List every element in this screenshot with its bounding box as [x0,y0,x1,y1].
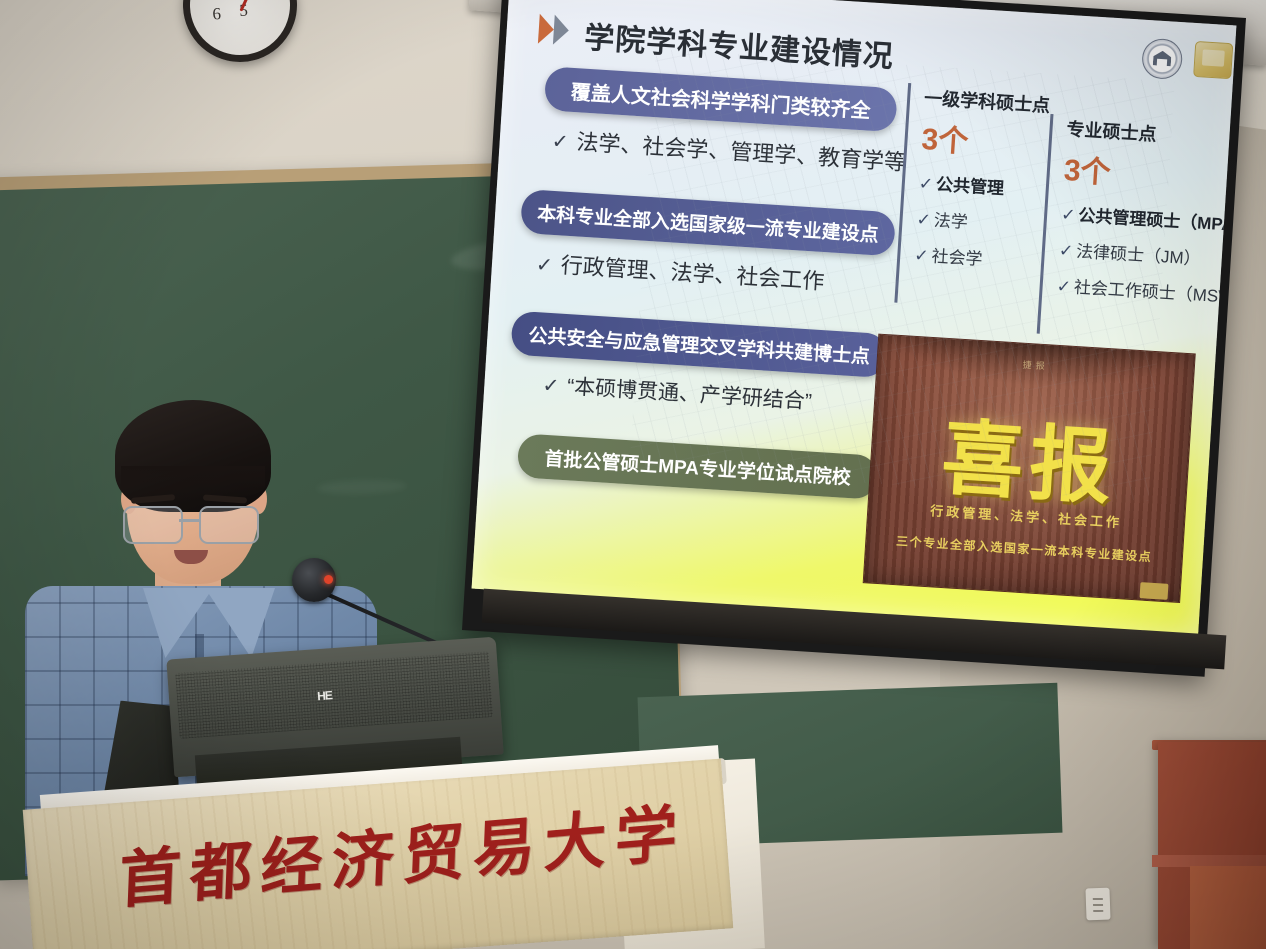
stat-item: ✓公共管理 [918,169,1051,202]
stat-column-professional-master: 专业硕士点 3个 ✓公共管理硕士（MPA） ✓法律硕士（JM） ✓社会工作硕士（… [1037,114,1227,345]
slide-bar-4: 首批公管硕士MPA专业学位试点院校 [517,433,879,500]
lens-right [199,506,259,544]
slide-bar-2: 本科专业全部入选国家级一流专业建设点 [520,189,896,256]
check-icon: ✓ [1056,277,1071,297]
eyeglasses [123,506,263,540]
check-icon: ✓ [914,246,929,266]
check-icon: ✓ [1061,205,1076,225]
gold-award-logo [1193,41,1233,79]
double-chevron-icon [538,14,586,47]
stat-item-text: 法律硕士（JM） [1076,242,1202,269]
stat-column-title: 一级学科硕士点 [924,84,1057,118]
projector-screen-pull-tab[interactable] [1140,582,1169,600]
check-icon: ✓ [542,375,560,398]
stat-item: ✓法律硕士（JM） [1058,236,1219,271]
lectern-body [1190,866,1266,949]
check-icon: ✓ [916,210,931,230]
monitor-mesh [175,651,493,739]
poster-line-2: 三个专业全部入选国家一流本科专业建设点 [866,530,1182,567]
glasses-bridge [179,519,199,522]
stat-column-count: 3个 [920,114,1055,166]
stat-item: ✓社会学 [914,241,1047,274]
good-news-poster: 捷报 喜报 行政管理、法学、社会工作 三个专业全部入选国家一流本科专业建设点 [863,334,1196,603]
stat-column-count: 3个 [1063,145,1225,199]
stat-item-text: 公共管理硕士（MPA） [1078,206,1237,236]
lens-left [123,506,183,544]
stat-item: ✓法学 [916,205,1049,238]
slide-subpoint-1-text: 法学、社会学、管理学、教育学等 [576,129,907,175]
clock-number-6: 6 [212,4,222,24]
slide-subpoint-2-text: 行政管理、法学、社会工作 [560,253,825,295]
check-icon: ✓ [1058,241,1073,261]
stat-item: ✓社会工作硕士（MSW） [1056,272,1217,307]
wall-power-outlet [1085,888,1110,921]
screenshot-root: 6 5 学院学科专业建设情况 覆盖人文社会科学学科门类较齐全 ✓法学、社会学、管… [0,0,1266,949]
stat-item-text: 公共管理 [936,175,1005,198]
presentation-slide: 学院学科专业建设情况 覆盖人文社会科学学科门类较齐全 ✓法学、社会学、管理学、教… [472,0,1237,634]
stat-column-first-level-master: 一级学科硕士点 3个 ✓公共管理 ✓法学 ✓社会学 [894,83,1057,312]
university-seal-logo [1141,38,1183,80]
slide-subpoint-3: ✓“本硕博贯通、产学研结合” [542,369,813,416]
check-icon: ✓ [918,174,933,194]
stat-item-text: 社会工作硕士（MSW） [1073,278,1236,308]
monitor-brand-badge: HE [317,688,333,703]
slide-bar-1: 覆盖人文社会科学学科门类较齐全 [544,66,898,132]
microphone-led-icon [324,575,333,584]
check-icon: ✓ [551,131,569,154]
stat-item-text: 社会学 [931,247,983,269]
check-icon: ✓ [535,254,553,277]
slide-subpoint-3-text: “本硕博贯通、产学研结合” [566,375,812,413]
slide-subpoint-2: ✓行政管理、法学、社会工作 [535,246,825,296]
stat-item-text: 法学 [933,211,968,232]
hair [115,400,271,512]
slide-title: 学院学科专业建设情况 [583,13,895,76]
stat-item: ✓公共管理硕士（MPA） [1061,200,1222,235]
slide-subpoint-1: ✓法学、社会学、管理学、教育学等 [551,123,907,177]
slide-bar-3: 公共安全与应急管理交叉学科共建博士点 [510,311,888,379]
